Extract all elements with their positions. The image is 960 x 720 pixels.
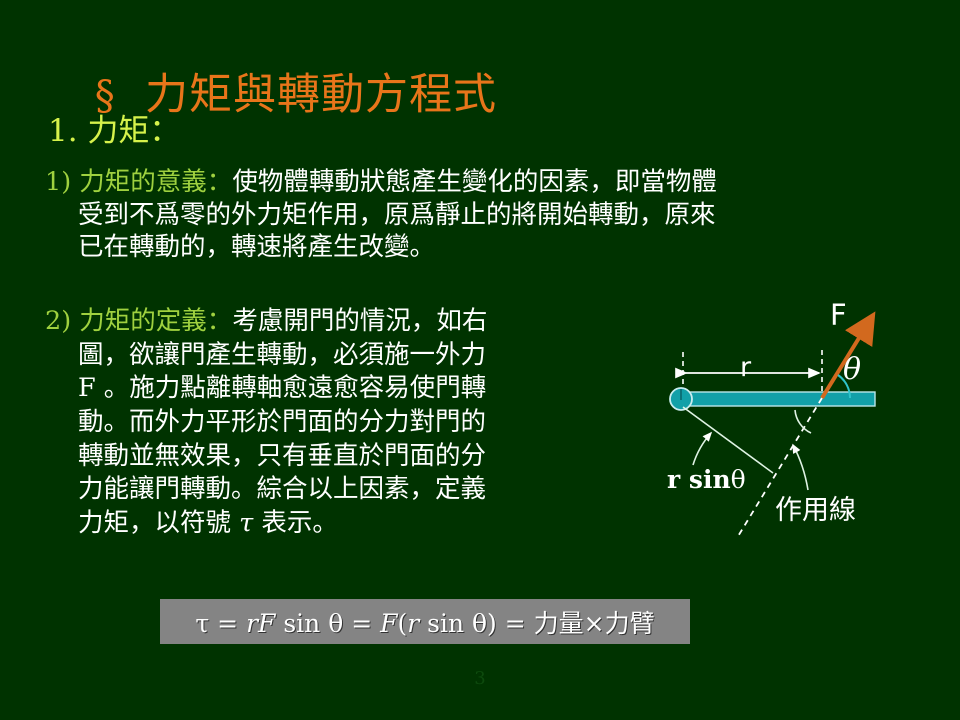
formula-eq3: =: [497, 609, 534, 638]
formula-tau: τ: [195, 609, 209, 638]
heading-1: 1. 力矩：: [48, 105, 180, 150]
list-item-2-line4: 動。而外力平形於門面的分力對門的: [78, 406, 635, 440]
list-item-2-line1: 考慮開門的情況，如右: [232, 306, 487, 336]
formula-r2: r: [407, 609, 419, 638]
line-of-action-leader: [793, 445, 808, 490]
list-item-2-line7-pre: 力矩，以符號: [78, 508, 239, 538]
radius-label: r: [740, 352, 751, 383]
force-label: F: [830, 298, 847, 332]
list-item-2-line7: 力矩，以符號 τ 表示。: [78, 507, 635, 541]
list-item-2: 2) 力矩的定義：考慮開門的情況，如右 圖，欲讓門產生轉動，必須施一外力 F 。…: [45, 305, 635, 541]
formula-box: τ = rF sin θ = F(r sin θ) = 力量×力臂: [160, 599, 690, 644]
list-item-1-marker: 1): [45, 167, 71, 197]
list-item-1: 1) 力矩的意義：使物體轉動狀態產生變化的因素，即當物體 受到不爲零的外力矩作用…: [45, 166, 950, 265]
list-item-2-line7-post: 表示。: [253, 508, 338, 538]
action-line-label: 作用線: [775, 488, 856, 527]
formula-eq1: =: [209, 609, 246, 638]
slide-canvas: § 力矩與轉動方程式 1. 力矩： 1) 力矩的意義：使物體轉動狀態產生變化的因…: [0, 0, 960, 720]
list-item-2-line5: 轉動並無效果，只有垂直於門面的分: [78, 440, 635, 474]
door-bar: [685, 392, 875, 406]
force-symbol-inline: F: [78, 373, 96, 403]
list-item-2-line6: 力能讓門轉動。綜合以上因素，定義: [78, 473, 635, 507]
formula-paren-open: (: [397, 609, 407, 638]
moment-arm-theta: θ: [731, 465, 746, 494]
torque-formula: τ = rF sin θ = F(r sin θ) = 力量×力臂: [195, 604, 654, 640]
list-item-2-lead: 力矩的定義：: [79, 306, 232, 336]
angle-label: θ: [843, 352, 861, 387]
formula-sin1: sin θ: [275, 609, 343, 638]
formula-sin2: sin θ: [419, 609, 487, 638]
page-number: 3: [0, 668, 960, 689]
torque-diagram: F r θ r sinθ 作用線: [645, 290, 960, 565]
list-item-1-line3: 已在轉動的，轉速將產生改變。: [78, 231, 950, 265]
list-item-1-line1: 使物體轉動狀態產生變化的因素，即當物體: [232, 167, 717, 197]
list-item-2-line3: F 。施力點離轉軸愈遠愈容易使門轉: [78, 372, 635, 406]
formula-F2: F: [380, 609, 397, 638]
list-item-2-line3-text: 。施力點離轉軸愈遠愈容易使門轉: [96, 373, 487, 403]
list-item-2-line2: 圖，欲讓門產生轉動，必須施一外力: [78, 339, 635, 373]
formula-words: 力量×力臂: [534, 609, 655, 638]
moment-arm-line: [683, 407, 773, 473]
moment-arm-leader: [693, 433, 711, 465]
list-item-1-lead: 力矩的意義：: [79, 167, 232, 197]
formula-r1: r: [246, 609, 258, 638]
list-item-2-marker: 2): [45, 306, 71, 336]
moment-arm-label: r sinθ: [667, 465, 746, 494]
list-item-1-line2: 受到不爲零的外力矩作用，原爲靜止的將開始轉動，原來: [78, 199, 950, 233]
tau-symbol-inline: τ: [239, 508, 253, 538]
formula-F1: F: [258, 609, 275, 638]
title-main: 力矩與轉動方程式: [145, 70, 497, 120]
moment-arm-label-text: r sin: [667, 465, 731, 494]
formula-paren-close: ): [487, 609, 497, 638]
formula-eq2: =: [343, 609, 380, 638]
